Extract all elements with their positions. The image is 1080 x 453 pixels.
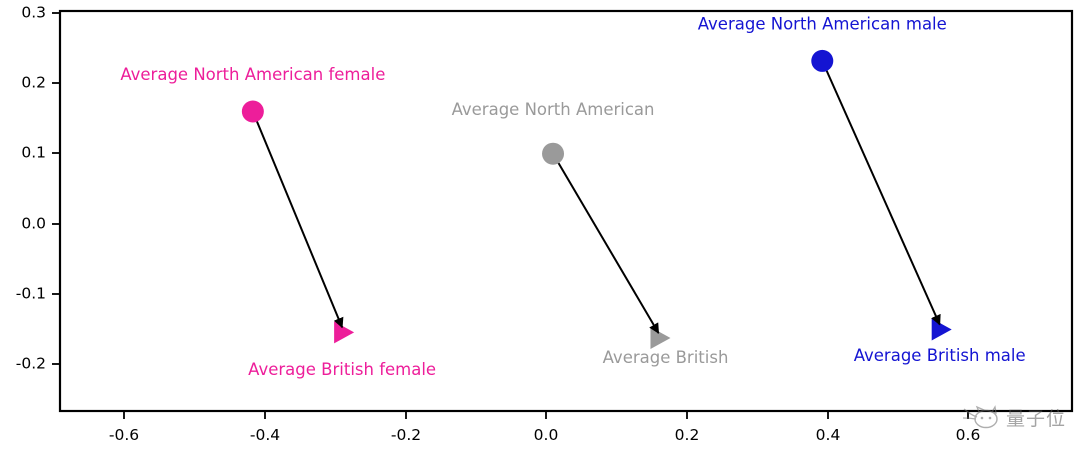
- y-axis-ticks: 0.3 0.2 0.1 0.0 -0.1 -0.2: [16, 4, 60, 373]
- y-tick-label: 0.1: [21, 144, 46, 162]
- label-north-american: Average North American: [452, 100, 655, 119]
- label-north-american-male: Average North American male: [698, 14, 947, 33]
- label-british-male: Average British male: [854, 346, 1026, 365]
- x-tick-label: 0.2: [675, 426, 700, 444]
- scatter-plot: 0.3 0.2 0.1 0.0 -0.1 -0.2 -0.6 -0.4 -0.2…: [0, 0, 1080, 453]
- y-tick-label: -0.1: [16, 285, 46, 303]
- y-tick-label: 0.0: [21, 215, 46, 233]
- y-tick-label: 0.3: [21, 4, 46, 22]
- y-tick-label: -0.2: [16, 355, 46, 373]
- label-british-female: Average British female: [248, 360, 436, 379]
- label-british: Average British: [603, 348, 729, 367]
- start-marker-circle-female: [242, 101, 264, 123]
- x-tick-label: 0.6: [956, 426, 981, 444]
- figure-canvas: 0.3 0.2 0.1 0.0 -0.1 -0.2 -0.6 -0.4 -0.2…: [0, 0, 1080, 453]
- y-tick-label: 0.2: [21, 74, 46, 92]
- x-axis-ticks: -0.6 -0.4 -0.2 0.0 0.2 0.4 0.6: [109, 411, 980, 444]
- start-marker-circle-overall: [542, 143, 564, 165]
- x-tick-label: -0.2: [391, 426, 421, 444]
- x-tick-label: 0.4: [816, 426, 841, 444]
- x-tick-label: -0.6: [109, 426, 139, 444]
- start-marker-circle-male: [811, 50, 833, 72]
- label-north-american-female: Average North American female: [120, 65, 385, 84]
- x-tick-label: 0.0: [534, 426, 559, 444]
- x-tick-label: -0.4: [250, 426, 280, 444]
